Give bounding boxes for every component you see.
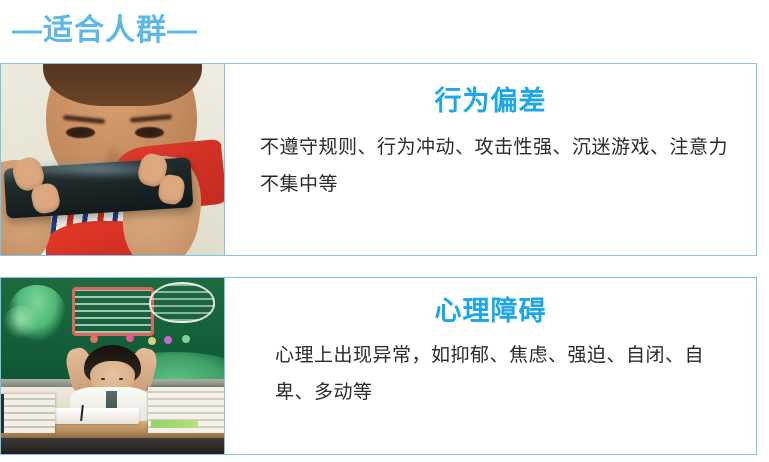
audience-card: 心理障碍 心理上出现异常，如抑郁、焦虑、强迫、自闭、自卑、多动等: [0, 277, 757, 455]
book-stack-right: [148, 387, 224, 433]
page-title: —适合人群—: [12, 14, 198, 47]
card-description: 不遵守规则、行为冲动、攻击性强、沉迷游戏、注意力不集中等: [243, 129, 738, 203]
card-photo-behavioral-deviation: [1, 64, 225, 255]
book-stack-left: [1, 394, 55, 433]
photo-boy-with-smartphone: [1, 64, 224, 255]
card-heading: 心理障碍: [243, 298, 738, 325]
card-description: 心理上出现异常，如抑郁、焦虑、强迫、自闭、自卑、多动等: [243, 337, 738, 411]
chalk-text-box: [72, 287, 154, 337]
chalk-speech-bubble: [149, 282, 215, 323]
card-body: 心理障碍 心理上出现异常，如抑郁、焦虑、强迫、自闭、自卑、多动等: [225, 278, 756, 454]
chalk-flower: [126, 334, 134, 342]
chalk-flower: [148, 337, 156, 345]
photo-boy-at-desk: [1, 278, 224, 454]
desk-front-panel: [1, 438, 224, 454]
open-book: [41, 408, 139, 424]
chalk-flower: [90, 335, 98, 343]
card-body: 行为偏差 不遵守规则、行为冲动、攻击性强、沉迷游戏、注意力不集中等: [225, 64, 756, 255]
chalk-tree-small: [3, 306, 39, 339]
chalk-flower: [182, 335, 190, 343]
card-heading: 行为偏差: [243, 88, 738, 115]
card-photo-psychological-disorder: [1, 278, 225, 454]
chalk-flower: [164, 336, 172, 344]
audience-card: 行为偏差 不遵守规则、行为冲动、攻击性强、沉迷游戏、注意力不集中等: [0, 63, 757, 256]
